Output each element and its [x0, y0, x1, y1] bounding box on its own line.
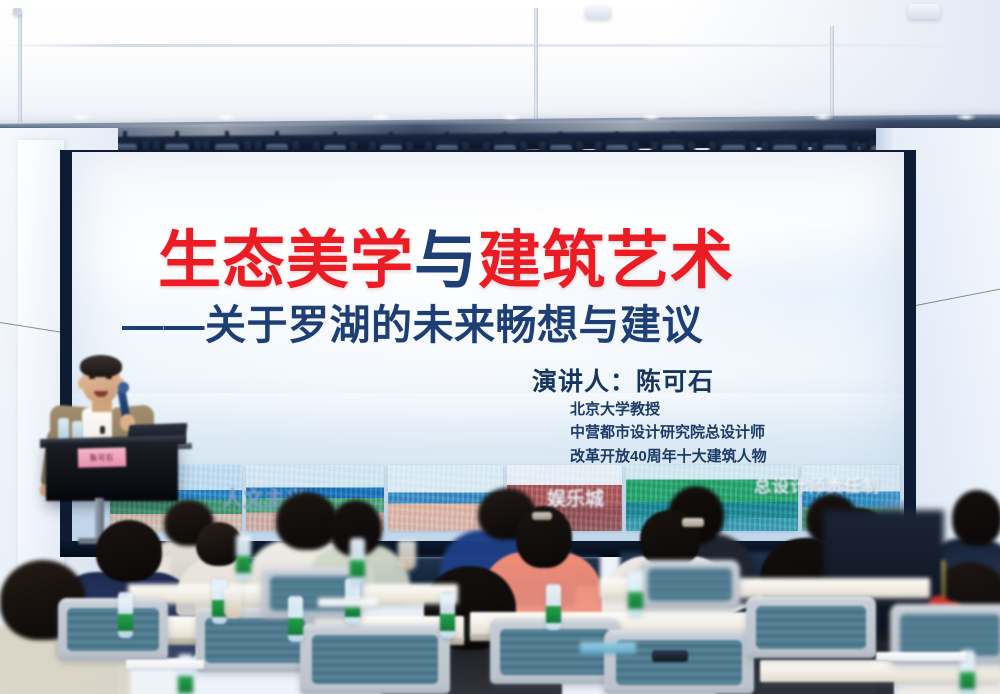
handout-paper [126, 660, 204, 669]
audience-chair [746, 596, 876, 658]
bottle-cap [352, 538, 363, 540]
bottle-label [628, 592, 643, 609]
screen-vignette [72, 152, 904, 541]
phone-on-table [652, 650, 688, 662]
handout-paper [876, 652, 966, 661]
audience-member-head [96, 520, 162, 582]
bottle-cap [214, 578, 225, 580]
bottle-cap [180, 654, 191, 656]
audience-member-head [276, 492, 338, 550]
notebook-on-table [580, 642, 636, 654]
chair-mesh-back [312, 635, 438, 684]
water-bottle [546, 584, 561, 630]
bottle-cap [442, 592, 453, 594]
bottle-cap [238, 534, 249, 536]
podium-name-card-text: 陈可石 [90, 452, 114, 463]
truss-specular-highlight [370, 113, 392, 121]
chair-mesh-back [900, 614, 1000, 656]
bottle-label [288, 618, 303, 635]
bottle-label [236, 556, 251, 573]
conference-photo-scene: 生态美学与建筑艺术 ——关于罗湖的未来畅想与建议 演讲人：陈可石 北京大学教授 … [0, 0, 1000, 694]
bottle-label [960, 672, 975, 689]
bottle-cap [630, 570, 641, 572]
bottle-label [178, 676, 193, 693]
ceiling-shadow-right [670, 0, 1000, 128]
ceiling-drop-rod-center [534, 8, 538, 124]
water-bottle [440, 592, 455, 638]
bottle-cap [548, 584, 559, 586]
chair-mesh-back [756, 606, 865, 649]
water-bottle [236, 534, 251, 580]
audience-chair [640, 560, 740, 608]
audience-chair [604, 630, 754, 694]
bottle-label [546, 606, 561, 623]
chair-mesh-back [648, 568, 732, 602]
podium-name-card: 陈可石 [78, 447, 126, 467]
smoke-detector [585, 6, 611, 19]
speaker-hair [80, 355, 122, 377]
bottle-cap [120, 592, 131, 594]
water-bottle [350, 538, 365, 584]
speaker-ear-left [78, 378, 85, 389]
audience-member-head [952, 490, 1000, 546]
speaker-lavalier-mic [100, 426, 105, 434]
disposable-cup [398, 540, 416, 570]
audience-chair [58, 598, 168, 660]
truss-specular-highlight [640, 113, 662, 121]
bottle-label [118, 614, 133, 631]
truss-specular-highlight [215, 113, 237, 121]
microphone-head [118, 382, 129, 393]
ceiling-drop-rod-left [18, 14, 22, 122]
disposable-cup [224, 588, 242, 618]
water-bottle [118, 592, 133, 638]
water-bottle [628, 570, 643, 616]
audience-chair [300, 624, 450, 694]
ceiling-speaker [908, 4, 940, 19]
bottle-cap [290, 596, 301, 598]
speaker-eye-right [106, 376, 112, 379]
speaker-eye-left [89, 376, 95, 379]
handout-paper [318, 598, 378, 607]
truss-specular-highlight [812, 113, 834, 121]
water-bottle [288, 596, 303, 642]
projection-screen: 生态美学与建筑艺术 ——关于罗湖的未来畅想与建议 演讲人：陈可石 北京大学教授 … [72, 152, 904, 541]
truss-specular-highlight [70, 113, 92, 121]
hair-clip [682, 518, 704, 527]
chair-mesh-back [67, 608, 159, 651]
truss-specular-highlight [955, 113, 977, 121]
truss-specular-highlight [500, 113, 522, 121]
bottle-label [350, 560, 365, 577]
ceiling-drop-rod-right [830, 26, 834, 122]
bottle-label [440, 614, 455, 631]
hair-clip [532, 512, 552, 520]
sprinkler-head-left [13, 8, 22, 15]
